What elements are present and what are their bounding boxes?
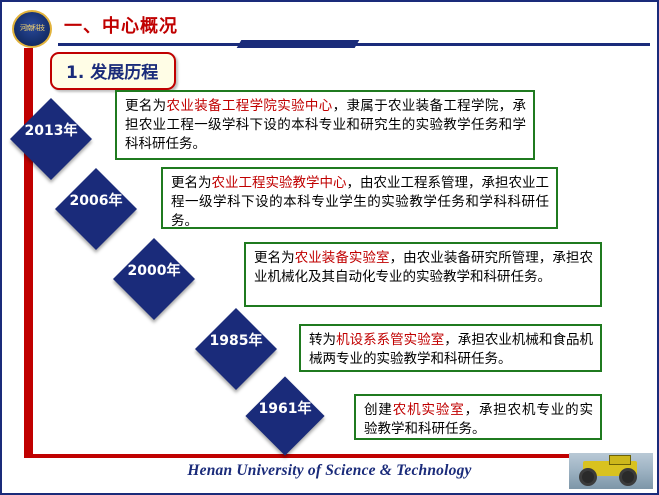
page-title: 一、中心概况	[64, 12, 178, 38]
text-segment: 创建	[364, 402, 393, 418]
university-logo-icon: 河南科技	[12, 10, 52, 48]
section-badge: 1. 发展历程	[50, 52, 176, 90]
text-highlight: 农业装备实验室	[295, 250, 390, 266]
footer-text: Henan University of Science & Technology	[2, 462, 657, 480]
tractor-cab	[609, 455, 631, 465]
text-segment: 更名为	[171, 175, 212, 191]
timeline-year-2006: 2006年	[57, 190, 135, 210]
header-rule	[58, 43, 650, 46]
bottom-rail	[24, 454, 639, 458]
text-highlight: 机设系系管实验室	[336, 332, 444, 348]
timeline-year-1985: 1985年	[197, 330, 275, 350]
timeline-year-1961: 1961年	[247, 398, 323, 418]
tractor-wheel-rear	[619, 468, 637, 486]
timeline-text-2006: 更名为农业工程实验教学中心，由农业工程系管理，承担农业工程一级学科下设的本科专业…	[161, 167, 558, 229]
timeline-year-2013: 2013年	[12, 120, 90, 140]
timeline-year-2000: 2000年	[115, 260, 193, 280]
text-segment: 更名为	[125, 98, 167, 114]
timeline-text-1985: 转为机设系系管实验室，承担农业机械和食品机械两专业的实验教学和科研任务。	[299, 324, 602, 372]
text-segment: 更名为	[254, 250, 295, 266]
text-highlight: 农业工程实验教学中心	[212, 175, 347, 191]
timeline-text-2000: 更名为农业装备实验室，由农业装备研究所管理，承担农业机械化及其自动化专业的实验教…	[244, 242, 602, 307]
text-highlight: 农机实验室	[393, 402, 465, 418]
text-segment: 转为	[309, 332, 336, 348]
left-rail	[24, 48, 33, 454]
timeline-text-1961: 创建农机实验室，承担农机专业的实验教学和科研任务。	[354, 394, 602, 440]
tractor-wheel-front	[579, 468, 597, 486]
timeline-text-2013: 更名为农业装备工程学院实验中心，隶属于农业装备工程学院，承担农业工程一级学科下设…	[115, 90, 535, 160]
tractor-image	[569, 453, 653, 489]
logo-text: 河南科技	[20, 25, 44, 32]
text-highlight: 农业装备工程学院实验中心	[167, 98, 333, 114]
slide-root: 河南科技 一、中心概况 1. 发展历程 2013年 更名为农业装备工程学院实验中…	[0, 0, 659, 495]
